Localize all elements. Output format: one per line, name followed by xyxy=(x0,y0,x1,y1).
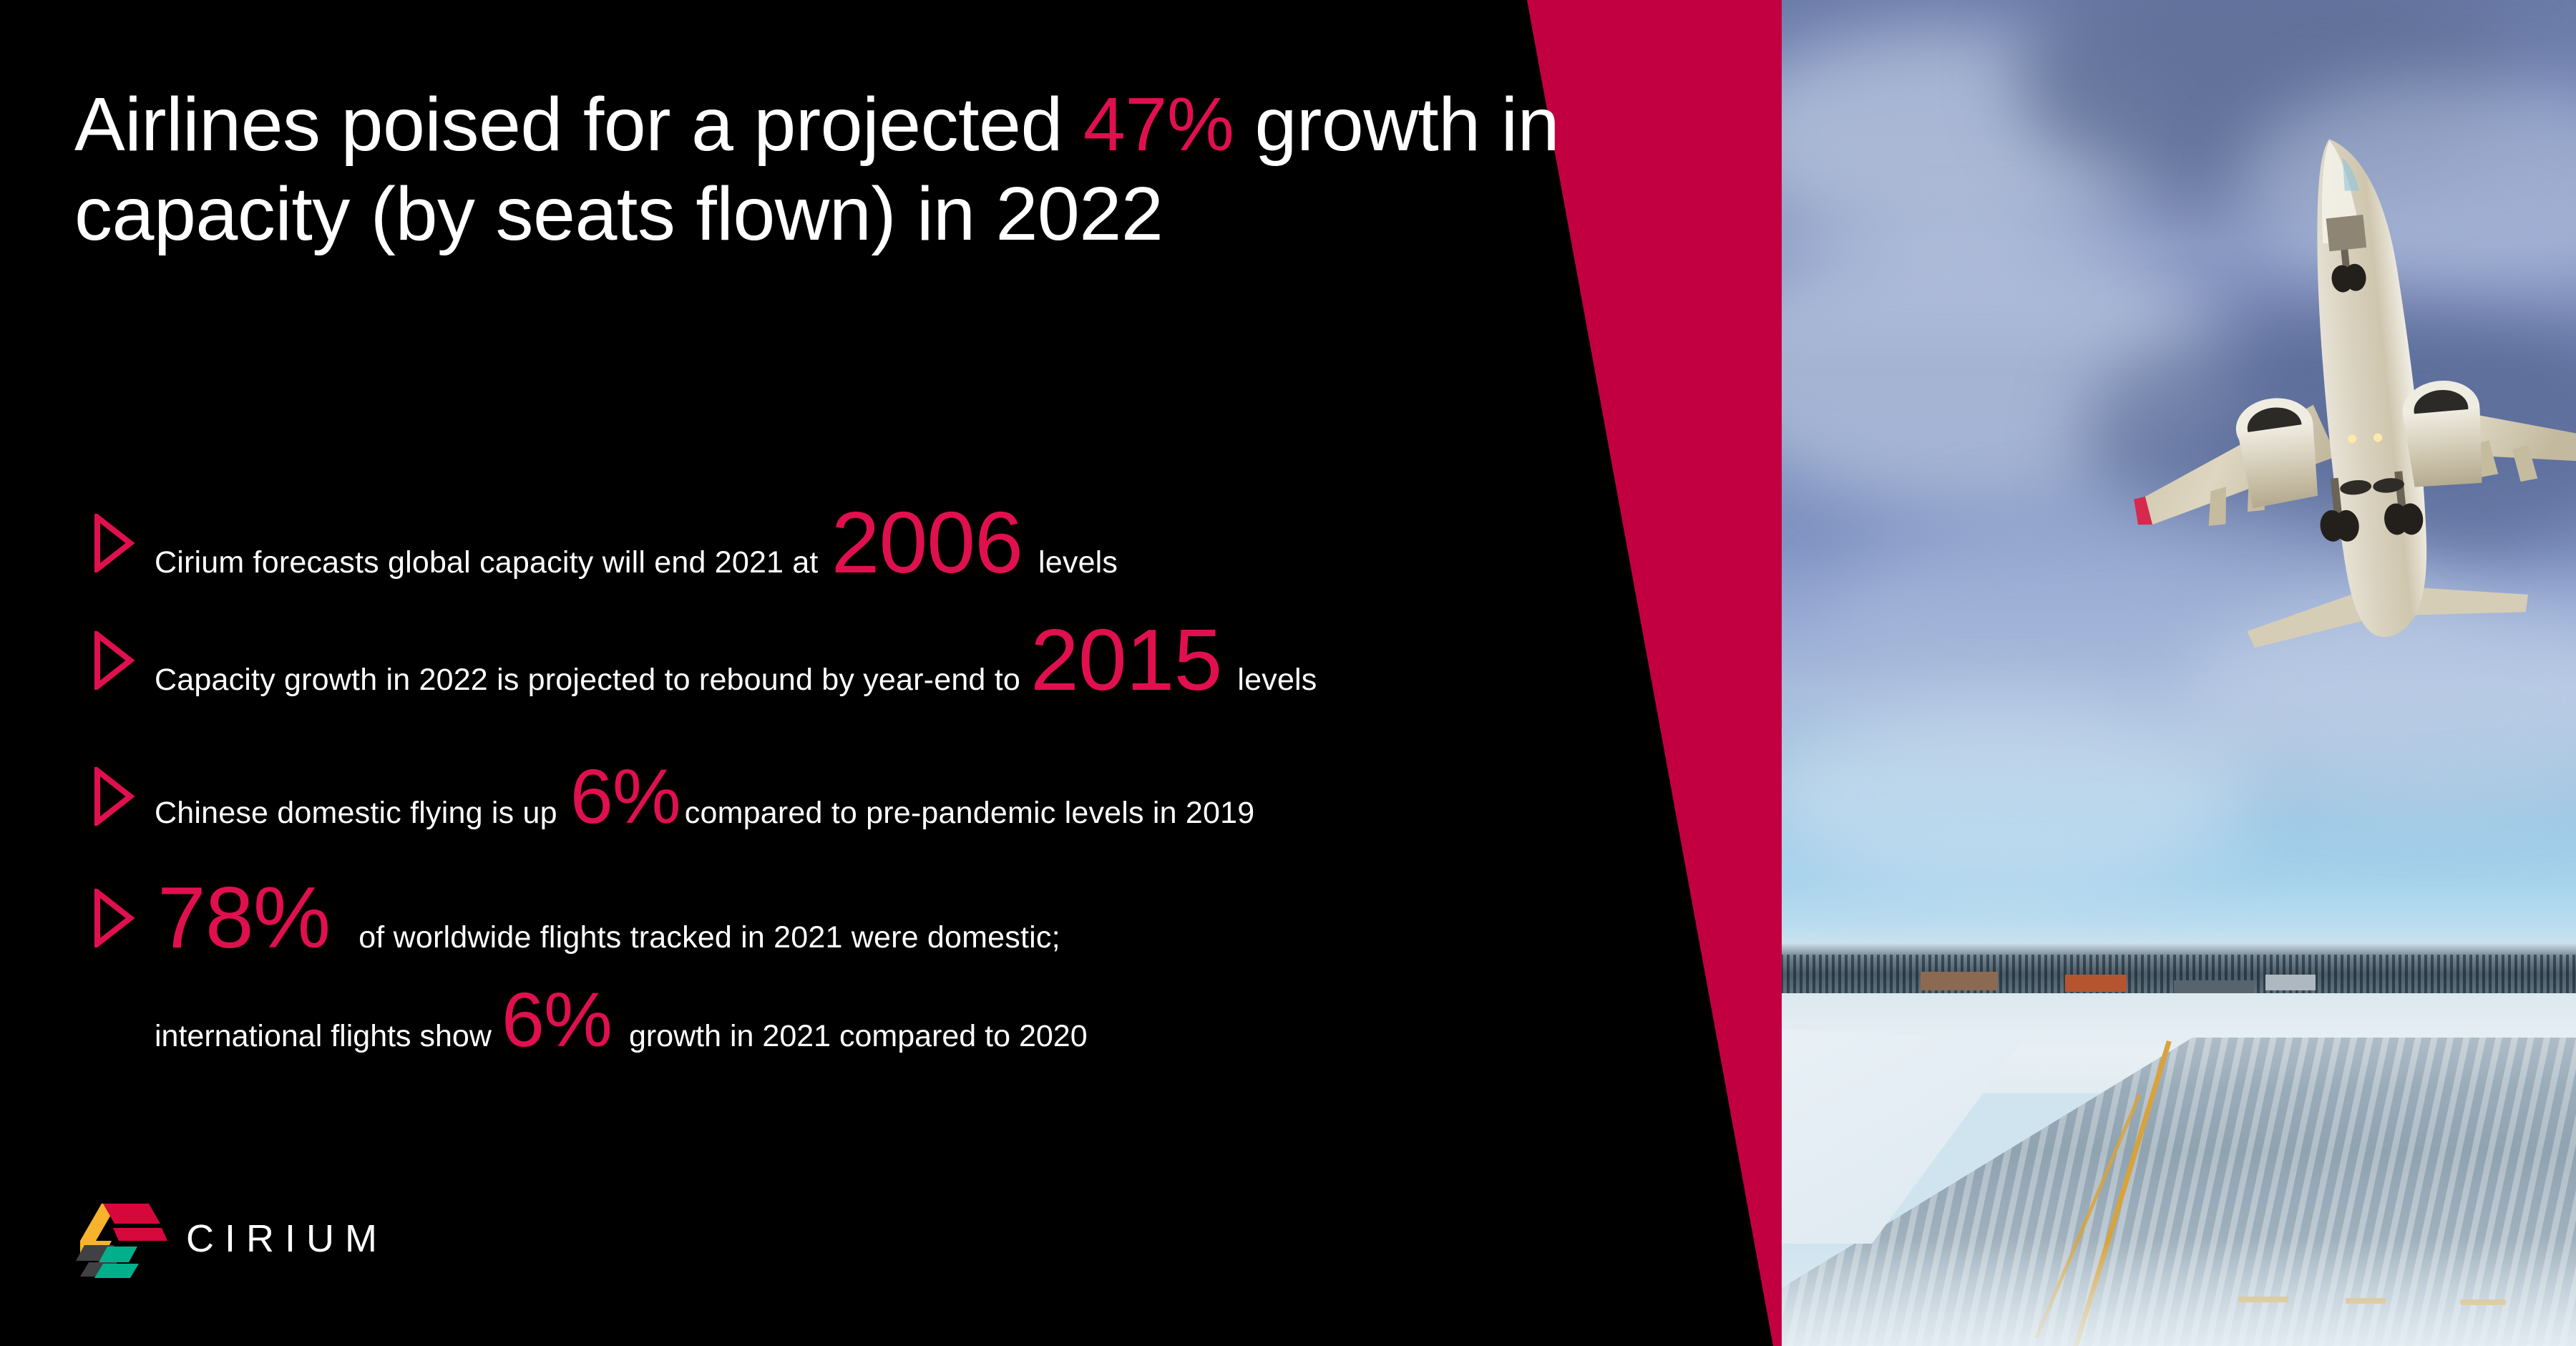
runway-scene xyxy=(1780,943,2576,1346)
list-item: Capacity growth in 2022 is projected to … xyxy=(93,592,1739,728)
page-title: Airlines poised for a projected 47% grow… xyxy=(74,80,1634,259)
bullet-post-text: of worldwide flights tracked in 2021 wer… xyxy=(358,920,1060,955)
bullet-post-text: levels xyxy=(1237,663,1317,698)
snow-foreground xyxy=(1780,1239,2576,1346)
bullet-stat: 6% xyxy=(570,761,680,831)
infographic-slide: Airlines poised for a projected 47% grow… xyxy=(0,0,2576,1346)
bullet-text: Capacity growth in 2022 is projected to … xyxy=(155,621,1317,700)
bullet-stat: 78% xyxy=(157,879,330,957)
airplane-icon xyxy=(2088,95,2576,714)
bullet-text: Chinese domestic flying is up 6% compare… xyxy=(155,761,1254,831)
cirium-wordmark: CIRIUM xyxy=(186,1216,388,1261)
triangle-right-icon xyxy=(93,889,135,947)
headline-accent-stat: 47% xyxy=(1083,82,1234,167)
bullet-post-text: compared to pre-pandemic levels in 2019 xyxy=(685,796,1255,831)
triangle-right-icon xyxy=(93,514,135,572)
bullet-pre-text: Capacity growth in 2022 is projected to … xyxy=(155,663,1020,698)
bullet-line2-pre-text: international flights show xyxy=(155,1019,492,1054)
aircraft-photo xyxy=(1780,0,2576,1346)
bullet-second-line: international flights show 6% growth in … xyxy=(155,985,1739,1054)
airport-building xyxy=(2265,975,2316,990)
list-item: 78% of worldwide flights tracked in 2021… xyxy=(93,864,1739,972)
airport-building xyxy=(2065,975,2127,992)
bullet-post-text: levels xyxy=(1038,545,1118,580)
triangle-right-icon xyxy=(93,631,135,690)
cirium-hexagon-logo-icon xyxy=(74,1196,169,1281)
list-item: Chinese domestic flying is up 6% compare… xyxy=(93,728,1739,864)
bullet-line2-stat: 6% xyxy=(502,985,612,1054)
bullet-line2-post-text: growth in 2021 compared to 2020 xyxy=(629,1019,1088,1054)
list-item: Cirium forecasts global capacity will en… xyxy=(93,494,1739,592)
bullet-list: Cirium forecasts global capacity will en… xyxy=(93,494,1739,1054)
bullet-text: Cirium forecasts global capacity will en… xyxy=(155,504,1118,582)
bullet-stat: 2006 xyxy=(831,504,1023,582)
bullet-text: 78% of worldwide flights tracked in 2021… xyxy=(155,879,1060,957)
cirium-logo: CIRIUM xyxy=(74,1196,388,1281)
bullet-pre-text: Cirium forecasts global capacity will en… xyxy=(155,545,819,580)
headline-part-1: Airlines poised for a projected xyxy=(74,82,1083,167)
bullet-pre-text: Chinese domestic flying is up xyxy=(155,796,557,831)
bullet-stat: 2015 xyxy=(1030,621,1221,700)
triangle-right-icon xyxy=(93,767,135,826)
airport-building xyxy=(1921,972,1998,990)
